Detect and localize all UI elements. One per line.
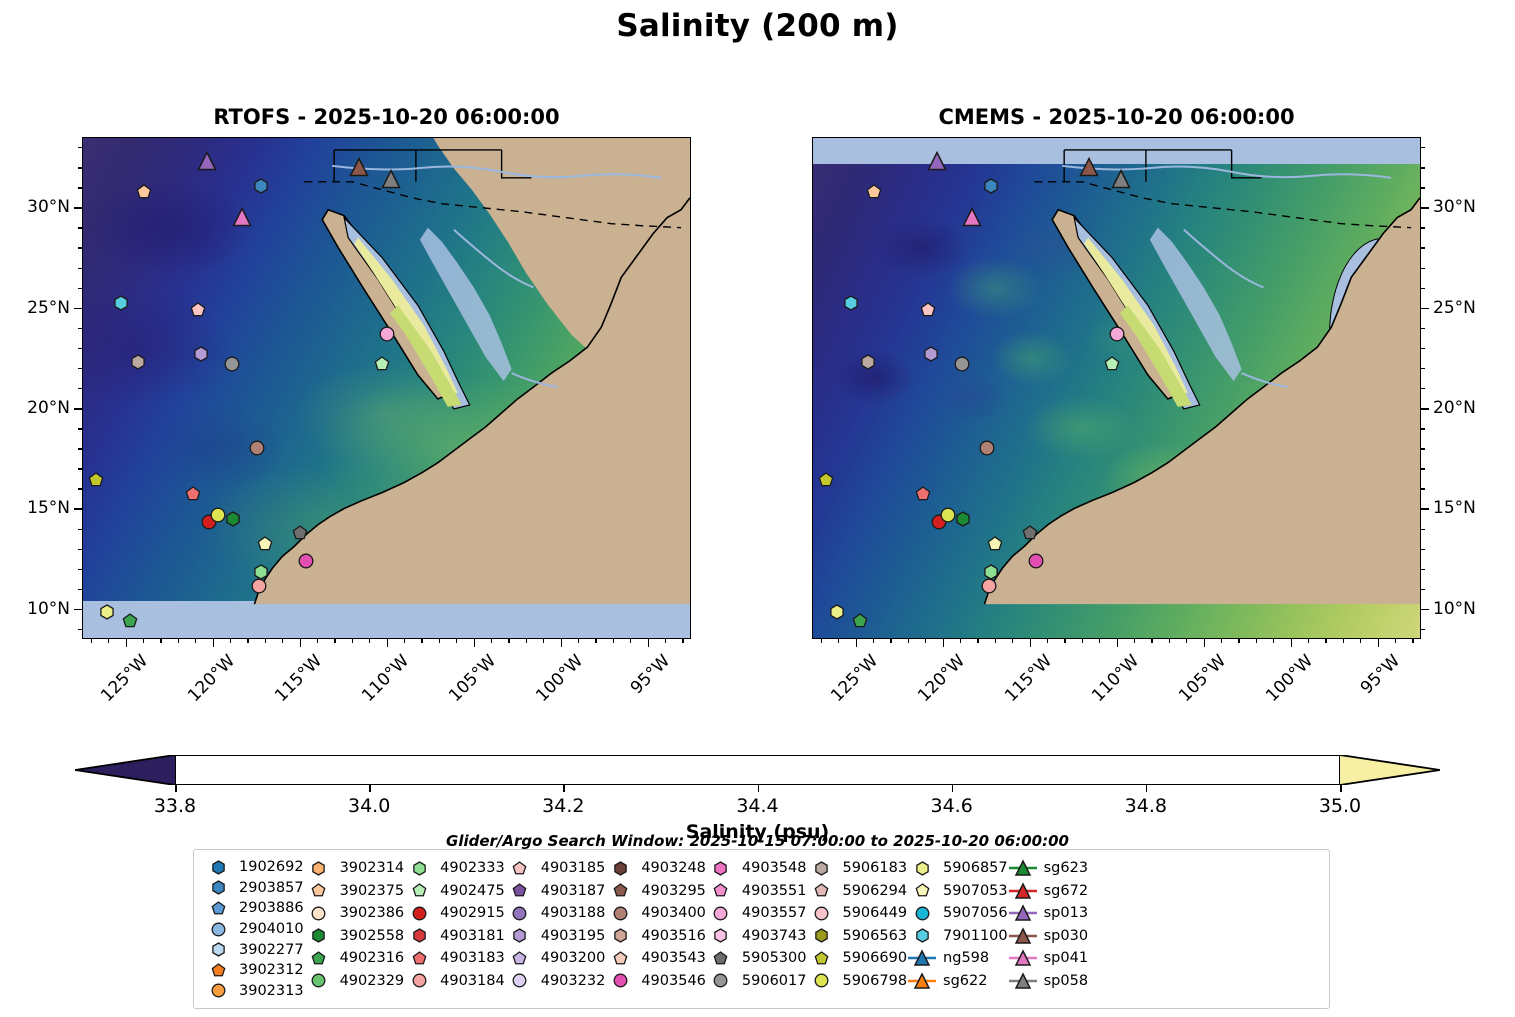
legend-label: 1902692 <box>233 859 304 875</box>
y-tick-minor <box>1421 529 1425 530</box>
legend-label: 4903548 <box>736 860 807 876</box>
legend-item-4903181[interactable]: 4903181 <box>404 925 505 948</box>
x-tick-minor <box>595 639 596 643</box>
map-panel-cmems: CMEMS - 2025-10-20 06:00:00 <box>812 137 1421 639</box>
y-tick-minor <box>1421 388 1425 389</box>
map-marker-3902375[interactable] <box>136 184 152 200</box>
argo-marker-icon <box>806 861 836 876</box>
map-frame-cmems[interactable] <box>812 137 1421 639</box>
map-marker-3902558[interactable] <box>225 511 241 527</box>
legend-item-4903557[interactable]: 4903557 <box>706 902 807 925</box>
argo-marker-icon <box>605 906 635 921</box>
legend-column-1: 1902692290385729038862904010390227739023… <box>203 857 304 1001</box>
argo-marker-icon <box>605 861 635 876</box>
map-marker-5906183[interactable] <box>860 354 876 370</box>
y-tick-minor <box>1421 288 1425 289</box>
glider-marker-icon <box>1008 859 1038 877</box>
legend-item-5906857[interactable]: 5906857 <box>907 857 1008 880</box>
legend-item-4903185[interactable]: 4903185 <box>505 857 606 880</box>
x-tick-major <box>213 639 215 647</box>
legend-item-ng598[interactable]: ng598 <box>907 947 1008 970</box>
map-marker-5906857[interactable] <box>829 604 845 620</box>
x-tick-minor <box>995 639 996 643</box>
y-tick-label: 15°N <box>1433 498 1476 518</box>
legend-column-8: 5906857590705359070567901100 ng598 sg622 <box>907 857 1008 1001</box>
argo-marker-icon <box>907 861 937 876</box>
legend-item-7901100[interactable]: 7901100 <box>907 925 1008 948</box>
legend-label: 5906449 <box>836 905 907 921</box>
x-tick-minor <box>1325 639 1326 643</box>
x-tick-minor <box>1308 639 1309 643</box>
argo-marker-icon <box>806 906 836 921</box>
y-tick-major <box>1421 609 1429 611</box>
y-tick-major <box>74 609 82 611</box>
x-tick-major <box>1204 639 1206 647</box>
glider-marker-icon <box>1008 949 1038 967</box>
legend-item-5906563[interactable]: 5906563 <box>806 925 907 948</box>
map-marker-sp041[interactable] <box>232 207 253 228</box>
map-marker-5906798[interactable] <box>210 507 226 523</box>
map-marker-4903557[interactable] <box>1109 326 1125 342</box>
map-marker-7901100[interactable] <box>843 295 859 311</box>
colorbar-tick <box>758 785 760 792</box>
coastline-overlay <box>813 138 1420 638</box>
x-tick-minor <box>369 639 370 643</box>
legend-item-2903886[interactable]: 2903886 <box>203 898 304 919</box>
map-marker-4902316[interactable] <box>122 613 138 629</box>
legend-label: 5906294 <box>836 883 907 899</box>
y-tick-minor <box>1421 147 1425 148</box>
x-tick-minor <box>682 639 683 643</box>
x-tick-minor <box>1343 639 1344 643</box>
x-tick-minor <box>630 639 631 643</box>
argo-marker-icon <box>907 906 937 921</box>
x-tick-minor <box>508 639 509 643</box>
legend-item-3902386[interactable]: 3902386 <box>304 902 405 925</box>
map-inner-rtofs <box>83 138 690 638</box>
map-marker-5905300[interactable] <box>1022 525 1038 541</box>
argo-marker-icon <box>203 963 233 978</box>
map-marker-5906690[interactable] <box>88 472 104 488</box>
y-tick-major <box>1421 207 1429 209</box>
legend-item-4902475[interactable]: 4902475 <box>404 880 505 903</box>
argo-marker-icon <box>304 951 334 966</box>
map-marker-5907053[interactable] <box>987 536 1003 552</box>
legend-item-2904010[interactable]: 2904010 <box>203 919 304 940</box>
legend-label: 4902915 <box>434 905 505 921</box>
legend-item-4903248[interactable]: 4903248 <box>605 857 706 880</box>
argo-marker-icon <box>404 906 434 921</box>
legend-label: 2903857 <box>233 880 304 896</box>
legend-label: 3902277 <box>233 942 304 958</box>
map-marker-4902475[interactable] <box>374 356 390 372</box>
map-marker-5906798[interactable] <box>940 507 956 523</box>
search-window-text: Glider/Argo Search Window: 2025-10-15 07… <box>0 832 1515 850</box>
y-tick-minor <box>1421 348 1425 349</box>
x-tick-major <box>387 639 389 647</box>
legend-item-5907056[interactable]: 5907056 <box>907 902 1008 925</box>
map-marker-sp030[interactable] <box>1079 157 1100 178</box>
x-tick-minor <box>1134 639 1135 643</box>
legend-label: 5906798 <box>836 973 907 989</box>
legend-item-sp013[interactable]: sp013 <box>1008 902 1088 925</box>
map-marker-sp013[interactable] <box>197 150 218 171</box>
y-tick-major <box>1421 408 1429 410</box>
argo-marker-icon <box>706 906 736 921</box>
argo-marker-icon <box>505 973 535 988</box>
map-marker-3902375[interactable] <box>866 184 882 200</box>
legend-label: 4903295 <box>635 883 706 899</box>
x-tick-major <box>1030 639 1032 647</box>
legend-item-5905300[interactable]: 5905300 <box>706 947 807 970</box>
map-marker-4903546[interactable] <box>1028 553 1044 569</box>
argo-marker-icon <box>806 951 836 966</box>
legend-label: 4903557 <box>736 905 807 921</box>
legend-item-4903548[interactable]: 4903548 <box>706 857 807 880</box>
legend-label: 2904010 <box>233 921 304 937</box>
colorbar-tick <box>1340 785 1342 792</box>
colorbar-tick-label: 34.0 <box>348 795 390 817</box>
map-marker-5906857[interactable] <box>99 604 115 620</box>
legend-item-sp030[interactable]: sp030 <box>1008 925 1088 948</box>
argo-marker-icon <box>605 951 635 966</box>
y-tick-minor <box>1421 247 1425 248</box>
map-marker-4903184[interactable] <box>981 578 997 594</box>
legend-label: 5907053 <box>937 883 1008 899</box>
legend-item-3902558[interactable]: 3902558 <box>304 925 405 948</box>
legend-label: 5906563 <box>836 928 907 944</box>
colorbar-tick-label: 34.8 <box>1125 795 1167 817</box>
legend-column-9: sg623 sg672 sp013 sp030 sp041 sp058 <box>1008 857 1088 1001</box>
legend-item-sg623[interactable]: sg623 <box>1008 857 1088 880</box>
legend-item-4903543[interactable]: 4903543 <box>605 947 706 970</box>
argo-marker-icon <box>605 973 635 988</box>
map-marker-5906017[interactable] <box>224 356 240 372</box>
legend-label: sp041 <box>1038 950 1088 966</box>
legend-label: 3902314 <box>334 860 405 876</box>
y-tick-minor <box>1421 468 1425 469</box>
legend-item-4903516[interactable]: 4903516 <box>605 925 706 948</box>
x-tick-minor <box>1412 639 1413 643</box>
legend-item-5906449[interactable]: 5906449 <box>806 902 907 925</box>
x-tick-minor <box>195 639 196 643</box>
legend-item-4903187[interactable]: 4903187 <box>505 880 606 903</box>
x-tick-minor <box>1064 639 1065 643</box>
legend-item-4903200[interactable]: 4903200 <box>505 947 606 970</box>
y-tick-label: 25°N <box>1433 298 1476 318</box>
legend-item-sp058[interactable]: sp058 <box>1008 970 1088 993</box>
legend-label: 4903183 <box>434 950 505 966</box>
legend-column-3: 4902333490247549029154903181490318349031… <box>404 857 505 1001</box>
x-tick-minor <box>317 639 318 643</box>
y-tick-minor <box>1421 167 1425 168</box>
legend-label: sp013 <box>1038 905 1088 921</box>
legend-item-1902692[interactable]: 1902692 <box>203 857 304 878</box>
map-marker-5906690[interactable] <box>818 472 834 488</box>
legend-label: 4903184 <box>434 973 505 989</box>
map-marker-4903184[interactable] <box>251 578 267 594</box>
legend-label: 4903543 <box>635 950 706 966</box>
argo-marker-icon <box>706 973 736 988</box>
legend-item-4903551[interactable]: 4903551 <box>706 880 807 903</box>
argo-marker-icon <box>907 928 937 943</box>
glider-marker-icon <box>1008 904 1038 922</box>
argo-marker-icon <box>404 883 434 898</box>
map-marker-4903185[interactable] <box>920 302 936 318</box>
legend-label: 4903248 <box>635 860 706 876</box>
map-marker-5906183[interactable] <box>130 354 146 370</box>
y-tick-minor <box>1421 629 1425 630</box>
x-tick-label: 100°W <box>532 651 587 706</box>
legend-item-4903295[interactable]: 4903295 <box>605 880 706 903</box>
colorbar-tick <box>369 785 371 792</box>
x-tick-minor <box>613 639 614 643</box>
argo-marker-icon <box>203 880 233 895</box>
x-tick-minor <box>108 639 109 643</box>
legend-columns: 1902692290385729038862904010390227739023… <box>203 857 1320 1001</box>
x-tick-minor <box>456 639 457 643</box>
y-tick-minor <box>1421 187 1425 188</box>
x-tick-minor <box>960 639 961 643</box>
legend-label: sp058 <box>1038 973 1088 989</box>
legend[interactable]: 1902692290385729038862904010390227739023… <box>193 849 1330 1009</box>
legend-item-4903184[interactable]: 4903184 <box>404 970 505 993</box>
legend-item-4902333[interactable]: 4902333 <box>404 857 505 880</box>
map-marker-4903546[interactable] <box>298 553 314 569</box>
x-tick-major <box>856 639 858 647</box>
map-marker-4903557[interactable] <box>379 326 395 342</box>
x-tick-label: 120°W <box>184 651 239 706</box>
y-tick-label: 20°N <box>1433 398 1476 418</box>
y-tick-minor <box>1421 268 1425 269</box>
map-marker-4903183[interactable] <box>915 486 931 502</box>
argo-marker-icon <box>404 973 434 988</box>
map-marker-2903857[interactable] <box>983 178 999 194</box>
map-panel-rtofs: RTOFS - 2025-10-20 06:00:00 <box>82 137 691 639</box>
map-marker-4902475[interactable] <box>1104 356 1120 372</box>
legend-label: 4903195 <box>535 928 606 944</box>
map-marker-sp013[interactable] <box>927 150 948 171</box>
map-marker-5907053[interactable] <box>257 536 273 552</box>
legend-label: sg623 <box>1038 860 1088 876</box>
legend-label: 4903551 <box>736 883 807 899</box>
x-tick-label: 115°W <box>271 651 326 706</box>
legend-item-2903857[interactable]: 2903857 <box>203 878 304 899</box>
x-tick-minor <box>178 639 179 643</box>
x-tick-minor <box>543 639 544 643</box>
y-tick-minor <box>1421 589 1425 590</box>
y-tick-minor <box>1421 448 1425 449</box>
legend-label: 3902313 <box>233 983 304 999</box>
legend-column-7: 5906183590629459064495906563590669059067… <box>806 857 907 1001</box>
x-tick-major <box>126 639 128 647</box>
legend-item-sp041[interactable]: sp041 <box>1008 947 1088 970</box>
map-frame-rtofs[interactable] <box>82 137 691 639</box>
x-tick-minor <box>1151 639 1152 643</box>
argo-marker-icon <box>505 951 535 966</box>
colorbar-tick-label: 34.6 <box>931 795 973 817</box>
legend-label: 4903185 <box>535 860 606 876</box>
legend-item-3902277[interactable]: 3902277 <box>203 939 304 960</box>
legend-item-4903546[interactable]: 4903546 <box>605 970 706 993</box>
colorbar-extend-low <box>75 755 175 785</box>
legend-item-4903195[interactable]: 4903195 <box>505 925 606 948</box>
colorbar-gradient <box>175 755 1340 785</box>
map-marker-sp030[interactable] <box>349 157 370 178</box>
x-tick-minor <box>821 639 822 643</box>
legend-item-4903232[interactable]: 4903232 <box>505 970 606 993</box>
argo-marker-icon <box>404 861 434 876</box>
map-marker-4902316[interactable] <box>852 613 868 629</box>
legend-item-4903400[interactable]: 4903400 <box>605 902 706 925</box>
y-tick-major <box>1421 508 1429 510</box>
argo-marker-icon <box>203 922 233 937</box>
argo-marker-icon <box>706 951 736 966</box>
x-tick-major <box>300 639 302 647</box>
legend-item-5906017[interactable]: 5906017 <box>706 970 807 993</box>
argo-marker-icon <box>806 928 836 943</box>
argo-marker-icon <box>706 883 736 898</box>
legend-label: 5905300 <box>736 950 807 966</box>
argo-marker-icon <box>806 883 836 898</box>
map-marker-sp041[interactable] <box>962 207 983 228</box>
y-tick-label: 20°N <box>27 398 70 418</box>
y-tick-label: 25°N <box>27 298 70 318</box>
map-marker-3902558[interactable] <box>955 511 971 527</box>
y-tick-major <box>74 508 82 510</box>
argo-marker-icon <box>806 973 836 988</box>
legend-item-5906690[interactable]: 5906690 <box>806 947 907 970</box>
y-tick-major <box>1421 308 1429 310</box>
figure-canvas: Salinity (200 m) RTOFS - 2025-10-20 06:0… <box>0 0 1515 1017</box>
argo-marker-icon <box>404 928 434 943</box>
legend-item-3902375[interactable]: 3902375 <box>304 880 405 903</box>
y-tick-label: 15°N <box>27 498 70 518</box>
y-tick-label: 30°N <box>27 197 70 217</box>
x-tick-minor <box>439 639 440 643</box>
y-tick-minor <box>1421 549 1425 550</box>
legend-item-3902314[interactable]: 3902314 <box>304 857 405 880</box>
x-tick-minor <box>578 639 579 643</box>
y-tick-minor <box>1421 227 1425 228</box>
x-tick-minor <box>838 639 839 643</box>
x-tick-minor <box>334 639 335 643</box>
x-tick-minor <box>1099 639 1100 643</box>
map-marker-5905300[interactable] <box>292 525 308 541</box>
legend-item-5906798[interactable]: 5906798 <box>806 970 907 993</box>
legend-item-4902329[interactable]: 4902329 <box>304 970 405 993</box>
legend-item-5906183[interactable]: 5906183 <box>806 857 907 880</box>
x-tick-minor <box>282 639 283 643</box>
map-marker-4903195[interactable] <box>193 346 209 362</box>
map-marker-sp058[interactable] <box>380 169 401 190</box>
map-marker-4903400[interactable] <box>249 440 265 456</box>
argo-marker-icon <box>304 861 334 876</box>
map-marker-4903183[interactable] <box>185 486 201 502</box>
legend-label: 4903516 <box>635 928 706 944</box>
glider-marker-icon <box>1008 972 1038 990</box>
x-tick-minor <box>265 639 266 643</box>
x-tick-minor <box>404 639 405 643</box>
legend-label: ng598 <box>937 950 989 966</box>
map-marker-5906017[interactable] <box>954 356 970 372</box>
x-tick-minor <box>1256 639 1257 643</box>
map-marker-2903857[interactable] <box>253 178 269 194</box>
x-tick-minor <box>1238 639 1239 643</box>
y-tick-label: 30°N <box>1433 197 1476 217</box>
x-tick-label: 120°W <box>914 651 969 706</box>
legend-label: 3902375 <box>334 883 405 899</box>
argo-marker-icon <box>203 860 233 875</box>
y-tick-major <box>74 207 82 209</box>
colorbar-extend-high <box>1340 755 1440 785</box>
y-tick-major <box>74 308 82 310</box>
argo-marker-icon <box>304 883 334 898</box>
legend-item-3902312[interactable]: 3902312 <box>203 960 304 981</box>
argo-marker-icon <box>404 951 434 966</box>
x-tick-label: 125°W <box>97 651 152 706</box>
legend-item-5907053[interactable]: 5907053 <box>907 880 1008 903</box>
legend-column-4: 4903185490318749031884903195490320049032… <box>505 857 606 1001</box>
x-tick-minor <box>1273 639 1274 643</box>
x-tick-minor <box>491 639 492 643</box>
map-marker-4903400[interactable] <box>979 440 995 456</box>
legend-item-sg672[interactable]: sg672 <box>1008 880 1088 903</box>
colorbar-tick <box>1146 785 1148 792</box>
argo-marker-icon <box>505 861 535 876</box>
map-marker-4903185[interactable] <box>190 302 206 318</box>
colorbar-tick <box>952 785 954 792</box>
legend-label: 4903546 <box>635 973 706 989</box>
argo-marker-icon <box>505 928 535 943</box>
map-marker-4903195[interactable] <box>923 346 939 362</box>
legend-label: 4903187 <box>535 883 606 899</box>
x-tick-label: 95°W <box>626 651 673 698</box>
x-tick-minor <box>1395 639 1396 643</box>
x-tick-major <box>1291 639 1293 647</box>
argo-marker-icon <box>203 942 233 957</box>
legend-item-4903743[interactable]: 4903743 <box>706 925 807 948</box>
x-tick-minor <box>1221 639 1222 643</box>
map-marker-sp058[interactable] <box>1110 169 1131 190</box>
legend-item-4903183[interactable]: 4903183 <box>404 947 505 970</box>
legend-item-4902915[interactable]: 4902915 <box>404 902 505 925</box>
x-tick-label: 105°W <box>445 651 500 706</box>
legend-item-5906294[interactable]: 5906294 <box>806 880 907 903</box>
x-tick-minor <box>352 639 353 643</box>
legend-item-3902313[interactable]: 3902313 <box>203 980 304 1001</box>
map-marker-7901100[interactable] <box>113 295 129 311</box>
x-tick-minor <box>1169 639 1170 643</box>
legend-label: 2903886 <box>233 900 304 916</box>
legend-item-4903188[interactable]: 4903188 <box>505 902 606 925</box>
x-tick-minor <box>977 639 978 643</box>
x-tick-minor <box>665 639 666 643</box>
legend-item-4902316[interactable]: 4902316 <box>304 947 405 970</box>
x-tick-minor <box>1012 639 1013 643</box>
map-inner-cmems <box>813 138 1420 638</box>
legend-label: 5906183 <box>836 860 907 876</box>
legend-item-sg622[interactable]: sg622 <box>907 970 1008 993</box>
legend-label: 4903181 <box>434 928 505 944</box>
glider-marker-icon <box>1008 882 1038 900</box>
legend-column-5: 4903248490329549034004903516490354349035… <box>605 857 706 1001</box>
argo-marker-icon <box>605 928 635 943</box>
legend-label: 5907056 <box>937 905 1008 921</box>
x-tick-minor <box>1082 639 1083 643</box>
legend-label: 3902386 <box>334 905 405 921</box>
y-tick-minor <box>1421 569 1425 570</box>
